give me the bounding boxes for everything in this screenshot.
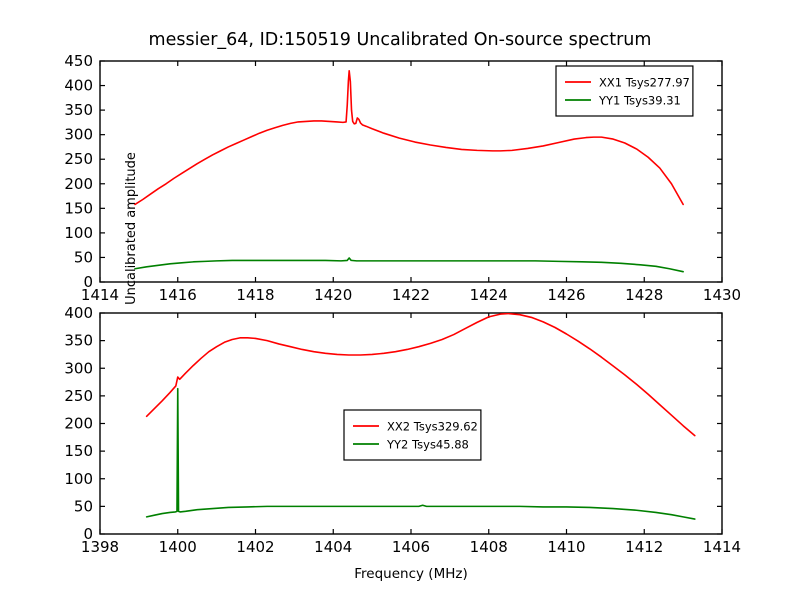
y-tick-label-top: 400 bbox=[64, 77, 93, 95]
legend-label: XX1 Tsys277.97 bbox=[599, 76, 690, 90]
y-tick-label-top: 250 bbox=[64, 150, 93, 168]
x-tick-label-top: 1422 bbox=[392, 286, 430, 304]
y-tick-label-top: 150 bbox=[64, 199, 93, 217]
y-tick-label-top: 200 bbox=[64, 175, 93, 193]
legend-box-bottom bbox=[344, 410, 481, 460]
legend-box-top bbox=[556, 66, 693, 116]
y-tick-label-top: 50 bbox=[74, 248, 93, 266]
figure-canvas: messier_64, ID:150519 Uncalibrated On-so… bbox=[0, 0, 800, 600]
x-tick-label-bottom: 1404 bbox=[314, 538, 352, 556]
x-tick-label-bottom: 1400 bbox=[159, 538, 197, 556]
y-tick-label-top: 350 bbox=[64, 101, 93, 119]
x-tick-label-bottom: 1406 bbox=[392, 538, 430, 556]
x-tick-label-top: 1428 bbox=[625, 286, 663, 304]
x-tick-label-top: 1420 bbox=[314, 286, 352, 304]
y-tick-label-top: 300 bbox=[64, 126, 93, 144]
y-tick-label-bottom: 350 bbox=[64, 332, 93, 350]
y-tick-label-bottom: 200 bbox=[64, 415, 93, 433]
series-line bbox=[135, 258, 683, 272]
x-tick-label-top: 1426 bbox=[547, 286, 585, 304]
y-tick-label-bottom: 100 bbox=[64, 470, 93, 488]
y-tick-label-bottom: 250 bbox=[64, 387, 93, 405]
y-tick-label-top: 100 bbox=[64, 224, 93, 242]
x-tick-label-bottom: 1410 bbox=[547, 538, 585, 556]
x-tick-label-bottom: 1402 bbox=[236, 538, 274, 556]
x-tick-label-bottom: 1412 bbox=[625, 538, 663, 556]
legend-bottom: XX2 Tsys329.62YY2 Tsys45.88 bbox=[344, 410, 481, 460]
y-tick-label-bottom: 400 bbox=[64, 304, 93, 322]
y-tick-label-top: 0 bbox=[83, 273, 93, 291]
x-tick-label-bottom: 1408 bbox=[470, 538, 508, 556]
legend-label: YY2 Tsys45.88 bbox=[386, 438, 469, 452]
x-tick-label-bottom: 1414 bbox=[703, 538, 741, 556]
y-tick-label-top: 450 bbox=[64, 52, 93, 70]
x-tick-label-top: 1424 bbox=[470, 286, 508, 304]
x-tick-label-top: 1418 bbox=[236, 286, 274, 304]
x-tick-label-top: 1416 bbox=[159, 286, 197, 304]
y-tick-label-bottom: 0 bbox=[83, 525, 93, 543]
y-tick-label-bottom: 300 bbox=[64, 359, 93, 377]
legend-label: YY1 Tsys39.31 bbox=[598, 94, 681, 108]
legend-label: XX2 Tsys329.62 bbox=[387, 420, 478, 434]
y-tick-label-bottom: 50 bbox=[74, 497, 93, 515]
legend-top: XX1 Tsys277.97YY1 Tsys39.31 bbox=[556, 66, 693, 116]
y-tick-label-bottom: 150 bbox=[64, 442, 93, 460]
plot-area: 1414141614181420142214241426142814300501… bbox=[0, 0, 800, 600]
x-tick-label-top: 1430 bbox=[703, 286, 741, 304]
